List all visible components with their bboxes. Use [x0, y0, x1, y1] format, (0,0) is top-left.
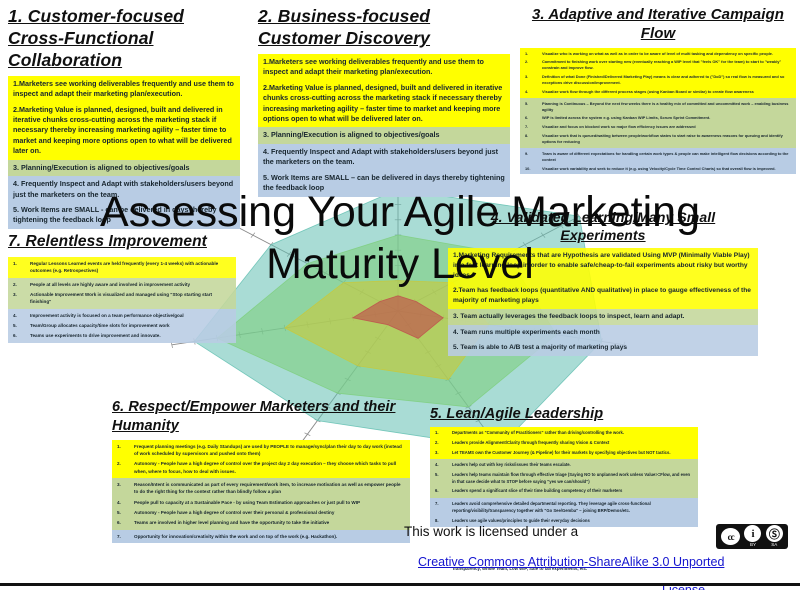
card-3-title: 3. Adaptive and Iterative Campaign Flow [520, 6, 796, 44]
list-item-number: 3. [13, 291, 25, 306]
list-item: 6.WIP is limited across the system e.g. … [525, 115, 791, 121]
list-item-number: 4. [435, 462, 447, 469]
card-5-body: 1.Departments as "Community of Practitio… [430, 427, 698, 527]
list-item-number: 2. [525, 59, 537, 71]
card-1-band-green: 3. Planning/Execution is aligned to obje… [8, 160, 240, 176]
list-item: 7.Opportunity for innovation/creativity … [117, 533, 405, 540]
list-item-number: 5. [435, 472, 447, 485]
list-item-text: Departments as "Community of Practitione… [452, 430, 693, 437]
list-item-number: 1. [525, 51, 537, 57]
card-4-title: 4. Validated Learning/Many Small Experim… [448, 208, 758, 244]
list-item-text: 5. Team is able to A/B test a majority o… [453, 343, 753, 353]
cc-sa-slot: Ⓢ SA [766, 525, 783, 548]
list-item-text: Regular Lessons Learned events are held … [30, 260, 231, 275]
list-item: 5.Leaders help teams maintain flow throu… [435, 472, 693, 485]
list-item-text: Autonomy - People have a high degree of … [134, 509, 405, 516]
list-item-text: Opportunity for innovation/creativity wi… [134, 533, 405, 540]
card-5-band-green: 4.Leaders help out with key risks/issues… [430, 459, 698, 498]
slide-canvas: 1. Customer-focused Cross-Functional Col… [0, 0, 800, 590]
card-2-band-blue: 4. Frequently Inspect and Adapt with sta… [258, 144, 510, 197]
card-6-body: 1.Frequent planning meetings (e.g. Daily… [112, 440, 410, 543]
list-item: 1.Frequent planning meetings (e.g. Daily… [117, 443, 405, 458]
maturity-card-7: 7. Relentless Improvement 1.Regular Less… [8, 232, 236, 343]
list-item-number: 6. [435, 488, 447, 495]
cc-by-slot: i BY [744, 525, 761, 548]
list-item-text: Leaders avoid comprehensive detailed dep… [452, 501, 693, 514]
list-item-number: 5. [117, 509, 129, 516]
list-item-number: 6. [117, 519, 129, 526]
list-item: 2.Leaders provide Alignment/Clarity thro… [435, 440, 693, 447]
list-item-number: 2. [435, 440, 447, 447]
list-item: 7.Visualize and focus on blocked work so… [525, 124, 791, 130]
list-item: 1.Departments as "Community of Practitio… [435, 430, 693, 437]
card-5-band-blue: 7.Leaders avoid comprehensive detailed d… [430, 498, 698, 527]
list-item: 6.Teams use experiments to drive improve… [13, 332, 231, 339]
list-item: 3.Actionable Improvement Work is visuali… [13, 291, 231, 306]
list-item-number: 9. [525, 151, 537, 163]
list-item-text: 1.Marketers see working deliverables fre… [263, 57, 505, 78]
card-3-band-yellow: 1.Visualize who is working on what as we… [520, 48, 796, 98]
cc-by-label: BY [750, 543, 756, 548]
list-item: 4.Improvement activity is focused on a t… [13, 312, 231, 319]
list-item-text: Visualize work that is queued/waiting be… [542, 133, 791, 145]
card-7-band-yellow: 1.Regular Lessons Learned events are hel… [8, 257, 236, 278]
maturity-card-3: 3. Adaptive and Iterative Campaign Flow … [520, 6, 796, 174]
list-item-number: 3. [117, 481, 129, 496]
maturity-card-4: 4. Validated Learning/Many Small Experim… [448, 208, 758, 356]
list-item: 6.Teams are involved in higher level pla… [117, 519, 405, 526]
card-2-band-yellow: 1.Marketers see working deliverables fre… [258, 54, 510, 128]
maturity-card-1: 1. Customer-focused Cross-Functional Col… [8, 6, 240, 229]
card-4-band-yellow: 1.Marketing Requirements that are Hypoth… [448, 248, 758, 308]
card-3-band-blue: 9.Team is aware of different expectation… [520, 148, 796, 175]
list-item-text: Visualize who is working on what as well… [542, 51, 791, 57]
radar-tick [251, 233, 255, 238]
cc-icon: cc [721, 528, 740, 545]
list-item-text: Planning is Continuous – Beyond the next… [542, 101, 791, 113]
list-item-text: People pull to capacity at a Sustainable… [134, 499, 405, 506]
list-item-text: 2.Marketing Value is planned, designed, … [263, 83, 505, 125]
list-item: 9.Team is aware of different expectation… [525, 151, 791, 163]
list-item-number: 8. [525, 133, 537, 145]
list-item-text: Leaders spend a significant slice of the… [452, 488, 693, 495]
license-link[interactable]: Creative Commons Attribution-ShareAlike … [418, 554, 748, 571]
list-item: 8.Visualize work that is queued/waiting … [525, 133, 791, 145]
list-item-text: 3. Team actually leverages the feedback … [453, 312, 753, 322]
list-item-text: Team is aware of different expectations … [542, 151, 791, 163]
list-item-number: 1. [435, 430, 447, 437]
list-item-text: Let TEAMS own the Customer Journey (& Pi… [452, 450, 693, 457]
list-item: 7.Leaders avoid comprehensive detailed d… [435, 501, 693, 514]
card-7-band-green: 2.People at all levels are highly aware … [8, 278, 236, 309]
list-item: 5.Team/Group allocates capacity/time slo… [13, 322, 231, 329]
card-6-band-yellow: 1.Frequent planning meetings (e.g. Daily… [112, 440, 410, 478]
person-icon: i [744, 525, 761, 542]
list-item-text: Visualize work variability and seek to r… [542, 166, 791, 172]
list-item-number: 6. [13, 332, 25, 339]
card-5-title: 5. Lean/Agile Leadership [430, 405, 698, 423]
list-item-number: 7. [117, 533, 129, 540]
list-item-number: 4. [13, 312, 25, 319]
card-2-band-green: 3. Planning/Execution is aligned to obje… [258, 127, 510, 143]
list-item-number: 4. [525, 89, 537, 95]
list-item: 1.Visualize who is working on what as we… [525, 51, 791, 57]
list-item-text: 4. Frequently Inspect and Adapt with sta… [13, 179, 235, 200]
card-5-band-yellow: 1.Departments as "Community of Practitio… [430, 427, 698, 459]
card-3-band-green: 5.Planning is Continuous – Beyond the ne… [520, 98, 796, 148]
list-item-number: 3. [525, 74, 537, 86]
list-item-text: 1.Marketing Requirements that are Hypoth… [453, 251, 753, 281]
list-item: 5.Planning is Continuous – Beyond the ne… [525, 101, 791, 113]
list-item-text: 3. Planning/Execution is aligned to obje… [13, 163, 235, 173]
card-7-title: 7. Relentless Improvement [8, 232, 236, 253]
list-item-number: 2. [13, 281, 25, 288]
card-1-body: 1.Marketers see working deliverables fre… [8, 76, 240, 229]
list-item-text: Team/Group allocates capacity/time slots… [30, 322, 231, 329]
list-item-number: 7. [435, 501, 447, 514]
list-item: 4.People pull to capacity at a Sustainab… [117, 499, 405, 506]
card-1-band-yellow: 1.Marketers see working deliverables fre… [8, 76, 240, 160]
list-item-number: 7. [525, 124, 537, 130]
list-item-text: 4. Team runs multiple experiments each m… [453, 328, 753, 338]
list-item-text: Improvement activity is focused on a tea… [30, 312, 231, 319]
card-6-band-green: 3.Reason/Intent is communicated as part … [112, 478, 410, 530]
list-item-text: Visualize work flow through the differen… [542, 89, 791, 95]
card-6-title: 6. Respect/Empower Marketers and their H… [112, 398, 410, 436]
list-item: 3.Let TEAMS own the Customer Journey (& … [435, 450, 693, 457]
maturity-card-6: 6. Respect/Empower Marketers and their H… [112, 398, 410, 543]
list-item-text: Commitment to finishing work over starti… [542, 59, 791, 71]
list-item-number: 2. [117, 460, 129, 475]
bottom-divider [0, 583, 800, 586]
card-3-body: 1.Visualize who is working on what as we… [520, 48, 796, 175]
card-4-body: 1.Marketing Requirements that are Hypoth… [448, 248, 758, 355]
list-item-text: People at all levels are highly aware an… [30, 281, 231, 288]
card-7-body: 1.Regular Lessons Learned events are hel… [8, 257, 236, 343]
list-item: 10.Visualize work variability and seek t… [525, 166, 791, 172]
list-item: 2.Autonomy - People have a high degree o… [117, 460, 405, 475]
list-item-text: Autonomy - People have a high degree of … [134, 460, 405, 475]
list-item-number: 5. [525, 101, 537, 113]
list-item: 2.Commitment to finishing work over star… [525, 59, 791, 71]
list-item-text: Leaders help out with key risks/issues t… [452, 462, 693, 469]
list-item-text: 2.Team has feedback loops (quantitative … [453, 286, 753, 306]
list-item-number: 4. [117, 499, 129, 506]
card-4-band-green: 3. Team actually leverages the feedback … [448, 309, 758, 325]
list-item-text: Reason/Intent is communicated as part of… [134, 481, 405, 496]
list-item-text: 2.Marketing Value is planned, designed, … [13, 105, 235, 157]
list-item-text: 5. Work Items are SMALL – can be deliver… [263, 173, 505, 194]
list-item-number: 1. [13, 260, 25, 275]
creative-commons-badge: cc i BY Ⓢ SA [716, 524, 788, 549]
list-item-text: Actionable Improvement Work is visualize… [30, 291, 231, 306]
list-item-text: Definition of what Done (Finished/Delive… [542, 74, 791, 86]
list-item-number: 3. [435, 450, 447, 457]
list-item: 3.Definition of what Done (Finished/Deli… [525, 74, 791, 86]
card-2-title: 2. Business-focused Customer Discovery [258, 6, 510, 50]
cc-sa-label: SA [771, 543, 777, 548]
list-item: 2.People at all levels are highly aware … [13, 281, 231, 288]
list-item-number: 6. [525, 115, 537, 121]
card-6-band-blue: 7.Opportunity for innovation/creativity … [112, 530, 410, 543]
list-item: 5.Autonomy - People have a high degree o… [117, 509, 405, 516]
maturity-card-5: 5. Lean/Agile Leadership 1.Departments a… [430, 405, 698, 527]
card-1-title: 1. Customer-focused Cross-Functional Col… [8, 6, 240, 72]
list-item-text: Visualize and focus on blocked work so m… [542, 124, 791, 130]
list-item-text: Leaders provide Alignment/Clarity throug… [452, 440, 693, 447]
list-item-text: WIP is limited across the system e.g. us… [542, 115, 791, 121]
list-item: 4.Visualize work flow through the differ… [525, 89, 791, 95]
maturity-card-2: 2. Business-focused Customer Discovery 1… [258, 6, 510, 197]
list-item-text: 1.Marketers see working deliverables fre… [13, 79, 235, 100]
list-item-text: Teams use experiments to drive improveme… [30, 332, 231, 339]
card-2-body: 1.Marketers see working deliverables fre… [258, 54, 510, 197]
card-7-band-blue: 4.Improvement activity is focused on a t… [8, 309, 236, 343]
card-4-band-blue: 4. Team runs multiple experiments each m… [448, 325, 758, 356]
list-item-number: 5. [13, 322, 25, 329]
list-item-text: Teams are involved in higher level plann… [134, 519, 405, 526]
list-item-text: 4. Frequently Inspect and Adapt with sta… [263, 147, 505, 168]
list-item-text: Frequent planning meetings (e.g. Daily S… [134, 443, 405, 458]
list-item-text: Leaders help teams maintain flow through… [452, 472, 693, 485]
list-item: 1.Regular Lessons Learned events are hel… [13, 260, 231, 275]
list-item: 6.Leaders spend a significant slice of t… [435, 488, 693, 495]
list-item-number: 10. [525, 166, 537, 172]
list-item-text: 5. Work Items are SMALL - can be deliver… [13, 205, 235, 226]
license-intro-text: This work is licensed under a [404, 524, 704, 539]
list-item: 3.Reason/Intent is communicated as part … [117, 481, 405, 496]
list-item-number: 1. [117, 443, 129, 458]
card-1-band-blue: 4. Frequently Inspect and Adapt with sta… [8, 176, 240, 229]
list-item-text: 3. Planning/Execution is aligned to obje… [263, 130, 505, 140]
list-item: 4.Leaders help out with key risks/issues… [435, 462, 693, 469]
share-alike-icon: Ⓢ [766, 525, 783, 542]
